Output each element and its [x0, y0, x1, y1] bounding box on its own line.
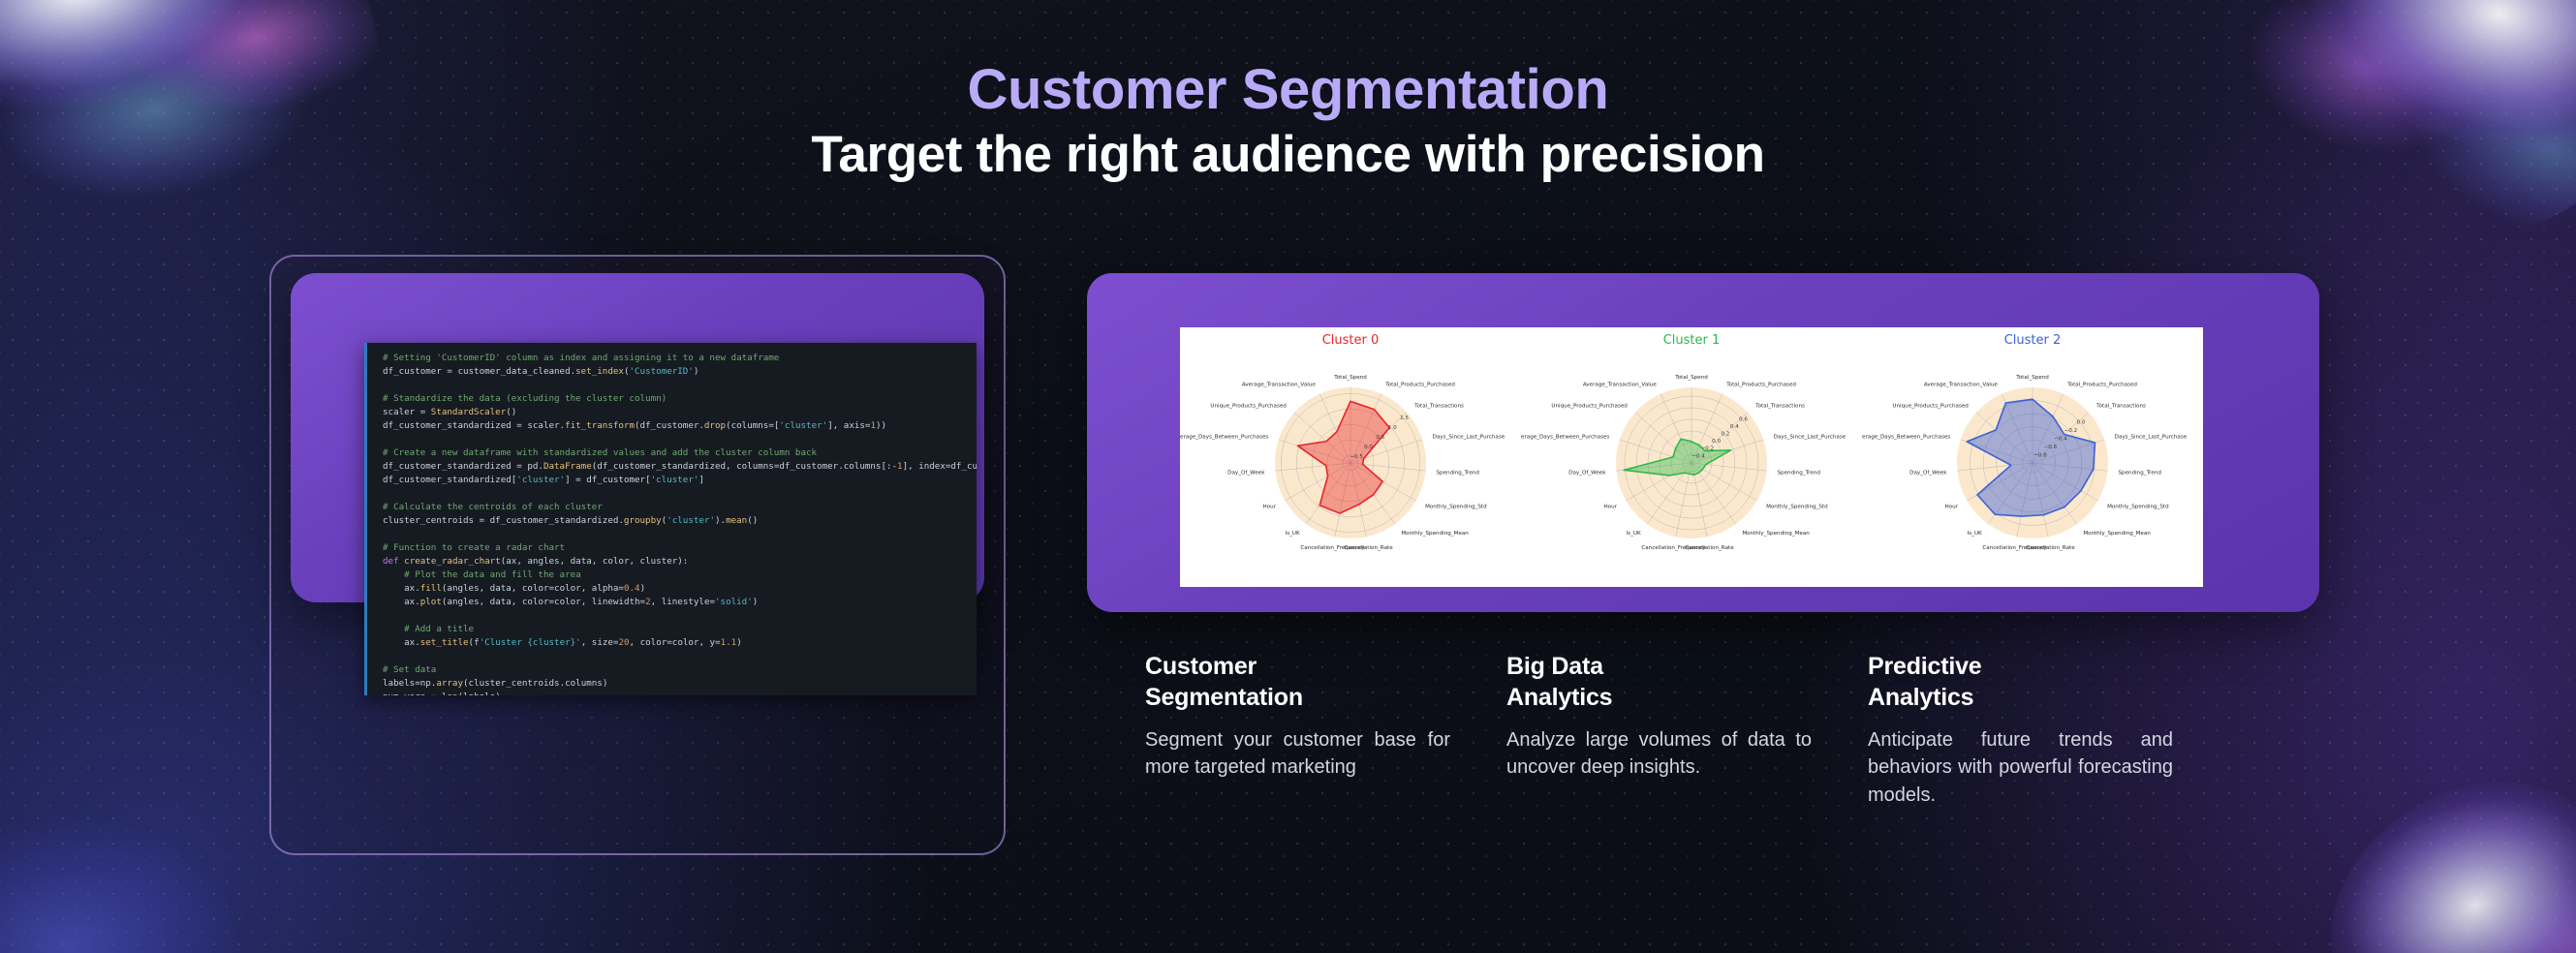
svg-text:0.4: 0.4	[1730, 424, 1739, 430]
radar-chart-cluster-0: Cluster 0−0.50.00.51.01.5Total_SpendTota…	[1180, 327, 1521, 587]
radar-axis-label: Days_Since_Last_Purchase	[1774, 434, 1847, 440]
radar-axis-label: Total_Spend	[1333, 375, 1367, 381]
radar-chart-cluster-2: Cluster 2−0.8−0.6−0.4−0.20.0Total_SpendT…	[1862, 327, 2203, 587]
radar-axis-label: Is_UK	[1627, 531, 1641, 537]
code-snippet[interactable]: # Setting 'CustomerID' column as index a…	[364, 343, 977, 695]
page-subtitle: Target the right audience with precision	[0, 127, 2576, 183]
radar-axis-label: Days_Since_Last_Purchase	[1433, 434, 1505, 440]
radar-axis-label: Day_Of_Week	[1227, 470, 1265, 476]
radar-axis-label: Hour	[1944, 505, 1958, 510]
decorative-gradient-glow-bottom-left	[0, 798, 242, 953]
feature-card-customer-segmentation: Customer Segmentation Segment your custo…	[1145, 651, 1450, 809]
radar-axis-label: Average_Transaction_Value	[1583, 383, 1657, 388]
page-header: Customer Segmentation Target the right a…	[0, 60, 2576, 184]
page-title: Customer Segmentation	[0, 60, 2576, 119]
svg-text:−0.2: −0.2	[1700, 446, 1714, 452]
feature-body: Anticipate future trends and behaviors w…	[1868, 726, 2173, 809]
radar-axis-label: Monthly_Spending_Mean	[1742, 531, 1810, 537]
feature-body: Segment your customer base for more targ…	[1145, 726, 1450, 782]
svg-text:0.6: 0.6	[1739, 416, 1748, 422]
feature-card-big-data-analytics: Big Data Analytics Analyze large volumes…	[1506, 651, 1812, 809]
radar-axis-label: Is_UK	[1968, 531, 1982, 537]
radar-axis-label: Spending_Trend	[2119, 470, 2162, 476]
radar-axis-label: Average_Days_Between_Purchases	[1862, 434, 1950, 440]
radar-axis-label: Unique_Products_Purchased	[1210, 403, 1287, 409]
radar-axis-label: Days_Since_Last_Purchase	[2115, 434, 2188, 440]
feature-title: Big Data Analytics	[1506, 651, 1812, 713]
svg-text:−0.6: −0.6	[2044, 445, 2058, 450]
radar-axis-label: Total_Transactions	[2095, 403, 2146, 409]
code-panel-card: # Setting 'CustomerID' column as index a…	[291, 273, 984, 602]
radar-axis-label: Average_Days_Between_Purchases	[1180, 434, 1268, 440]
svg-text:1.0: 1.0	[1388, 425, 1397, 431]
feature-cards: Customer Segmentation Segment your custo…	[1145, 651, 2434, 809]
page-root: Customer Segmentation Target the right a…	[0, 0, 2576, 953]
radar-axis-label: Monthly_Spending_Mean	[1401, 531, 1469, 537]
svg-text:0.0: 0.0	[1364, 445, 1373, 450]
svg-text:−0.4: −0.4	[1691, 453, 1705, 459]
feature-card-predictive-analytics: Predictive Analytics Anticipate future t…	[1868, 651, 2173, 809]
radar-axis-label: Unique_Products_Purchased	[1892, 403, 1969, 409]
radar-axis-label: Monthly_Spending_Std	[1766, 505, 1828, 510]
radar-axis-label: Unique_Products_Purchased	[1551, 403, 1628, 409]
radar-axis-label: Cancellation_Frequency	[1300, 545, 1365, 551]
radar-axis-label: Spending_Trend	[1437, 470, 1480, 476]
radar-axis-label: Day_Of_Week	[1568, 470, 1606, 476]
svg-text:−0.8: −0.8	[2033, 453, 2047, 459]
svg-text:0.0: 0.0	[2077, 419, 2086, 425]
radar-axis-label: Spending_Trend	[1778, 470, 1821, 476]
radar-axis-label: Total_Spend	[1674, 375, 1708, 381]
radar-axis-label: Average_Transaction_Value	[1242, 383, 1316, 388]
svg-text:0.0: 0.0	[1712, 439, 1721, 445]
radar-chart-cluster-1: Cluster 1−0.4−0.20.00.20.40.6Total_Spend…	[1521, 327, 1862, 587]
radar-chart-figure: Cluster 0−0.50.00.51.01.5Total_SpendTota…	[1180, 327, 2203, 587]
radar-axis-label: Average_Transaction_Value	[1924, 383, 1998, 388]
feature-title: Customer Segmentation	[1145, 651, 1450, 713]
radar-axis-label: Hour	[1603, 505, 1617, 510]
radar-axis-label: Total_Transactions	[1754, 403, 1805, 409]
svg-text:0.5: 0.5	[1376, 435, 1384, 441]
radar-axis-label: Total_Spend	[2015, 375, 2049, 381]
chart-panel-card: Cluster 0−0.50.00.51.01.5Total_SpendTota…	[1087, 273, 2319, 612]
radar-axis-label: Monthly_Spending_Mean	[2083, 531, 2151, 537]
radar-axis-label: Day_Of_Week	[1909, 470, 1947, 476]
feature-title: Predictive Analytics	[1868, 651, 2173, 713]
radar-axis-label: Is_UK	[1286, 531, 1300, 537]
svg-text:−0.2: −0.2	[2064, 428, 2078, 434]
svg-text:−0.4: −0.4	[2054, 436, 2067, 442]
radar-axis-label: Monthly_Spending_Std	[1425, 505, 1487, 510]
panels-row: # Setting 'CustomerID' column as index a…	[0, 250, 2576, 618]
radar-axis-label: Hour	[1262, 505, 1276, 510]
radar-axis-label: Average_Days_Between_Purchases	[1521, 434, 1609, 440]
radar-axis-label: Total_Products_Purchased	[1725, 383, 1796, 388]
radar-axis-label: Total_Products_Purchased	[1384, 383, 1455, 388]
svg-text:−0.5: −0.5	[1350, 454, 1363, 460]
svg-text:0.2: 0.2	[1721, 432, 1729, 438]
radar-axis-label: Cancellation_Frequency	[1982, 545, 2047, 551]
radar-axis-label: Total_Transactions	[1413, 403, 1464, 409]
radar-axis-label: Monthly_Spending_Std	[2107, 505, 2169, 510]
radar-axis-label: Cancellation_Frequency	[1641, 545, 1706, 551]
feature-body: Analyze large volumes of data to uncover…	[1506, 726, 1812, 782]
radar-axis-label: Total_Products_Purchased	[2066, 383, 2137, 388]
svg-text:1.5: 1.5	[1400, 415, 1409, 421]
